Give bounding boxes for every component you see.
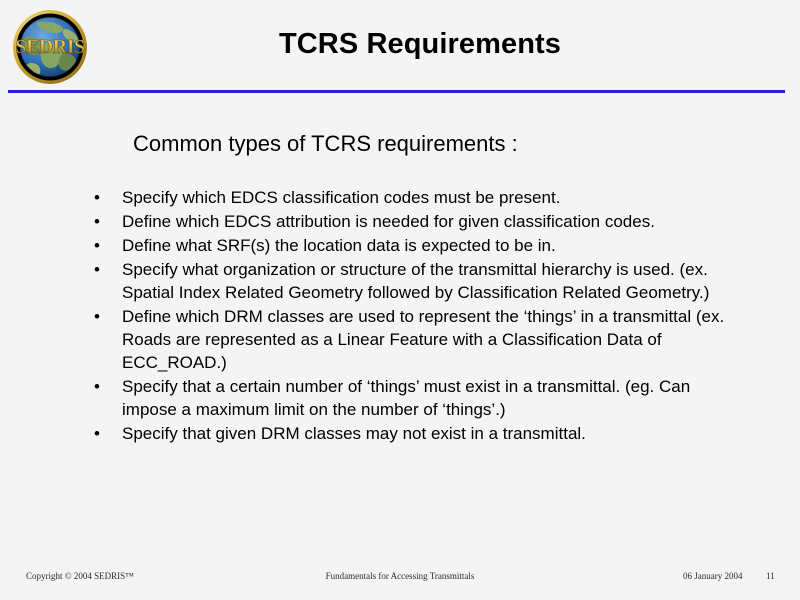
bullet-marker-icon: •	[88, 186, 122, 209]
list-item: • Specify that a certain number of ‘thin…	[88, 375, 736, 421]
list-item-text: Define which DRM classes are used to rep…	[122, 305, 736, 374]
list-item-text: Specify which EDCS classification codes …	[122, 186, 736, 209]
footer-document-title: Fundamentals for Accessing Transmittals	[0, 571, 800, 581]
footer-page-number: 11	[766, 571, 775, 581]
title-divider-rule	[8, 90, 785, 93]
slide-title: TCRS Requirements	[120, 24, 720, 70]
slide-subtitle: Common types of TCRS requirements :	[133, 131, 518, 157]
list-item-text: Define what SRF(s) the location data is …	[122, 234, 736, 257]
list-item: • Specify that given DRM classes may not…	[88, 422, 736, 445]
list-item: • Define which DRM classes are used to r…	[88, 305, 736, 374]
list-item-text: Specify what organization or structure o…	[122, 258, 736, 304]
list-item-text: Define which EDCS attribution is needed …	[122, 210, 736, 233]
bullet-list: • Specify which EDCS classification code…	[88, 186, 736, 446]
bullet-marker-icon: •	[88, 258, 122, 281]
footer-date: 06 January 2004	[683, 571, 743, 581]
list-item: • Specify which EDCS classification code…	[88, 186, 736, 209]
list-item: • Define which EDCS attribution is neede…	[88, 210, 736, 233]
list-item: • Specify what organization or structure…	[88, 258, 736, 304]
bullet-marker-icon: •	[88, 210, 122, 233]
logo-wordmark: SEDRIS	[15, 36, 85, 58]
bullet-marker-icon: •	[88, 375, 122, 398]
bullet-marker-icon: •	[88, 422, 122, 445]
list-item: • Define what SRF(s) the location data i…	[88, 234, 736, 257]
list-item-text: Specify that a certain number of ‘things…	[122, 375, 736, 421]
presentation-slide: SEDRIS TCRS Requirements Common types of…	[0, 0, 800, 600]
bullet-marker-icon: •	[88, 234, 122, 257]
bullet-marker-icon: •	[88, 305, 122, 328]
list-item-text: Specify that given DRM classes may not e…	[122, 422, 736, 445]
sedris-globe-logo: SEDRIS	[6, 9, 94, 85]
slide-footer: Copyright © 2004 SEDRIS™ Fundamentals fo…	[0, 568, 800, 588]
